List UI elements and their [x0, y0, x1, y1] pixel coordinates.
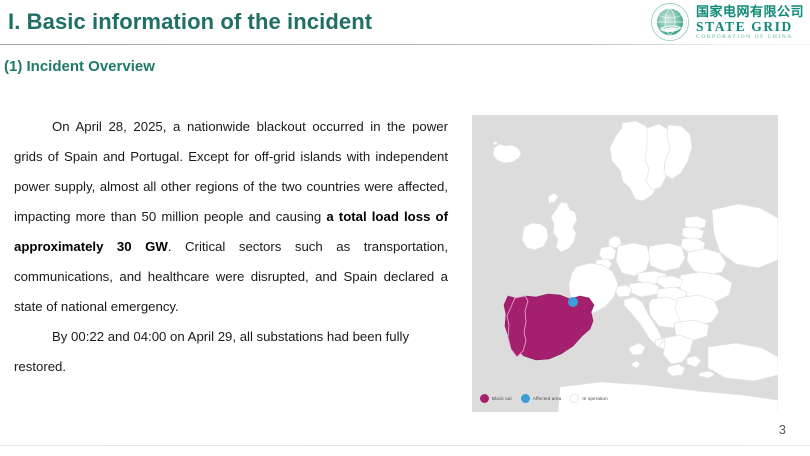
page-number: 3	[779, 422, 786, 437]
paragraph-1: On April 28, 2025, a nationwide blackout…	[14, 112, 448, 322]
brand-name-sub: CORPORATION OF CHINA	[696, 35, 793, 41]
brand-logo: 国家电网有限公司 STATE GRID CORPORATION OF CHINA	[650, 2, 804, 42]
legend-item-blackout: Black out	[480, 394, 512, 403]
state-grid-globe-icon	[650, 2, 690, 42]
legend-item-affected: Affected area	[521, 394, 562, 403]
footer-divider	[0, 445, 810, 446]
legend-label-in-operation: In operation	[582, 396, 607, 401]
europe-blackout-map: Black out Affected area In operation	[472, 115, 778, 412]
title-divider	[0, 44, 810, 45]
map-legend: Black out Affected area In operation	[480, 394, 608, 403]
map-graphic	[472, 115, 778, 412]
slide-header: I. Basic information of the incident	[0, 0, 810, 46]
legend-swatch-in-operation-icon	[570, 394, 579, 403]
section-subtitle: (1) Incident Overview	[4, 58, 155, 75]
legend-item-in-operation: In operation	[570, 394, 607, 403]
page-title: I. Basic information of the incident	[8, 9, 372, 35]
paragraph-2: By 00:22 and 04:00 on April 29, all subs…	[14, 322, 448, 382]
incident-overview-text: On April 28, 2025, a nationwide blackout…	[14, 112, 448, 382]
legend-swatch-affected-icon	[521, 394, 530, 403]
brand-text-block: 国家电网有限公司 STATE GRID CORPORATION OF CHINA	[696, 3, 804, 41]
affected-area-marker	[568, 297, 578, 307]
legend-label-blackout: Black out	[492, 396, 512, 401]
legend-label-affected: Affected area	[533, 396, 562, 401]
legend-swatch-blackout-icon	[480, 394, 489, 403]
slide: I. Basic information of the incident	[0, 0, 810, 456]
paragraph-2-text: By 00:22 and 04:00 on April 29, all subs…	[14, 329, 409, 374]
brand-name-en: STATE GRID	[696, 20, 793, 34]
brand-name-cn: 国家电网有限公司	[696, 5, 804, 18]
